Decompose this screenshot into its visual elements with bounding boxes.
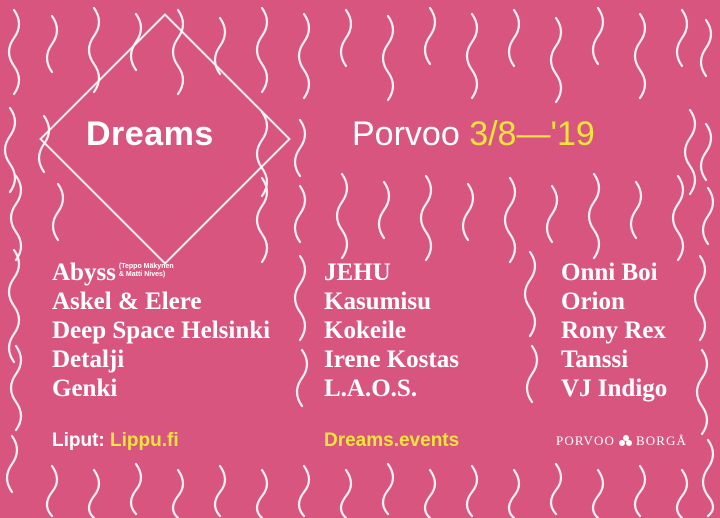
tickets-label: Liput: bbox=[52, 430, 110, 451]
artist-name: Kokeile bbox=[324, 317, 406, 344]
list-item: Orion bbox=[561, 287, 667, 316]
artist-name: Askel & Elere bbox=[52, 288, 202, 315]
event-poster: Dreams Porvoo 3/8—'19 Abyss(Teppo Mäkyne… bbox=[0, 0, 720, 518]
artist-name: Tanssi bbox=[561, 346, 628, 373]
artist-name: Orion bbox=[561, 288, 625, 315]
artist-name: Onni Boi bbox=[561, 259, 658, 286]
list-item: Abyss(Teppo Mäkynen & Matti Nives) bbox=[52, 258, 270, 287]
artist-name: VJ Indigo bbox=[561, 375, 667, 402]
list-item: Askel & Elere bbox=[52, 287, 270, 316]
artist-name: JEHU bbox=[324, 259, 391, 286]
list-item: Rony Rex bbox=[561, 316, 667, 345]
artist-name: Rony Rex bbox=[561, 317, 666, 344]
city-and-date: Porvoo 3/8—'19 bbox=[352, 112, 595, 156]
artist-name: Deep Space Helsinki bbox=[52, 317, 270, 344]
list-item: L.A.O.S. bbox=[324, 374, 459, 403]
artist-name: Kasumisu bbox=[324, 288, 431, 315]
list-item: Onni Boi bbox=[561, 258, 667, 287]
logo-text-left: PORVOO bbox=[556, 433, 615, 449]
list-item: VJ Indigo bbox=[561, 374, 667, 403]
artist-name: Detalji bbox=[52, 346, 124, 373]
list-item: Tanssi bbox=[561, 345, 667, 374]
lineup-column-1: Abyss(Teppo Mäkynen & Matti Nives) Askel… bbox=[52, 258, 270, 403]
tickets-info: Liput: Lippu.fi bbox=[52, 430, 179, 452]
list-item: Genki bbox=[52, 374, 270, 403]
artist-name: L.A.O.S. bbox=[324, 375, 417, 402]
artist-name: Abyss bbox=[52, 259, 116, 286]
porvoo-borga-logo: PORVOO BORGÅ bbox=[556, 433, 687, 449]
list-item: Deep Space Helsinki bbox=[52, 316, 270, 345]
logo-text-right: BORGÅ bbox=[636, 433, 687, 449]
city-label: Porvoo bbox=[352, 115, 460, 153]
list-item: Detalji bbox=[52, 345, 270, 374]
website-link[interactable]: Dreams.events bbox=[324, 430, 459, 452]
artist-name: Genki bbox=[52, 375, 117, 402]
tickets-link[interactable]: Lippu.fi bbox=[110, 430, 179, 451]
brand-title: Dreams bbox=[86, 112, 214, 156]
poster-header: Dreams Porvoo 3/8—'19 bbox=[0, 112, 720, 160]
lineup-column-2: JEHU Kasumisu Kokeile Irene Kostas L.A.O… bbox=[324, 258, 459, 403]
artist-name: Irene Kostas bbox=[324, 346, 459, 373]
lineup-column-3: Onni Boi Orion Rony Rex Tanssi VJ Indigo bbox=[561, 258, 667, 403]
list-item: Kokeile bbox=[324, 316, 459, 345]
list-item: Kasumisu bbox=[324, 287, 459, 316]
date-label: 3/8—'19 bbox=[469, 115, 595, 153]
clover-icon bbox=[619, 435, 632, 448]
artist-subtitle: (Teppo Mäkynen & Matti Nives) bbox=[119, 263, 174, 279]
list-item: Irene Kostas bbox=[324, 345, 459, 374]
list-item: JEHU bbox=[324, 258, 459, 287]
